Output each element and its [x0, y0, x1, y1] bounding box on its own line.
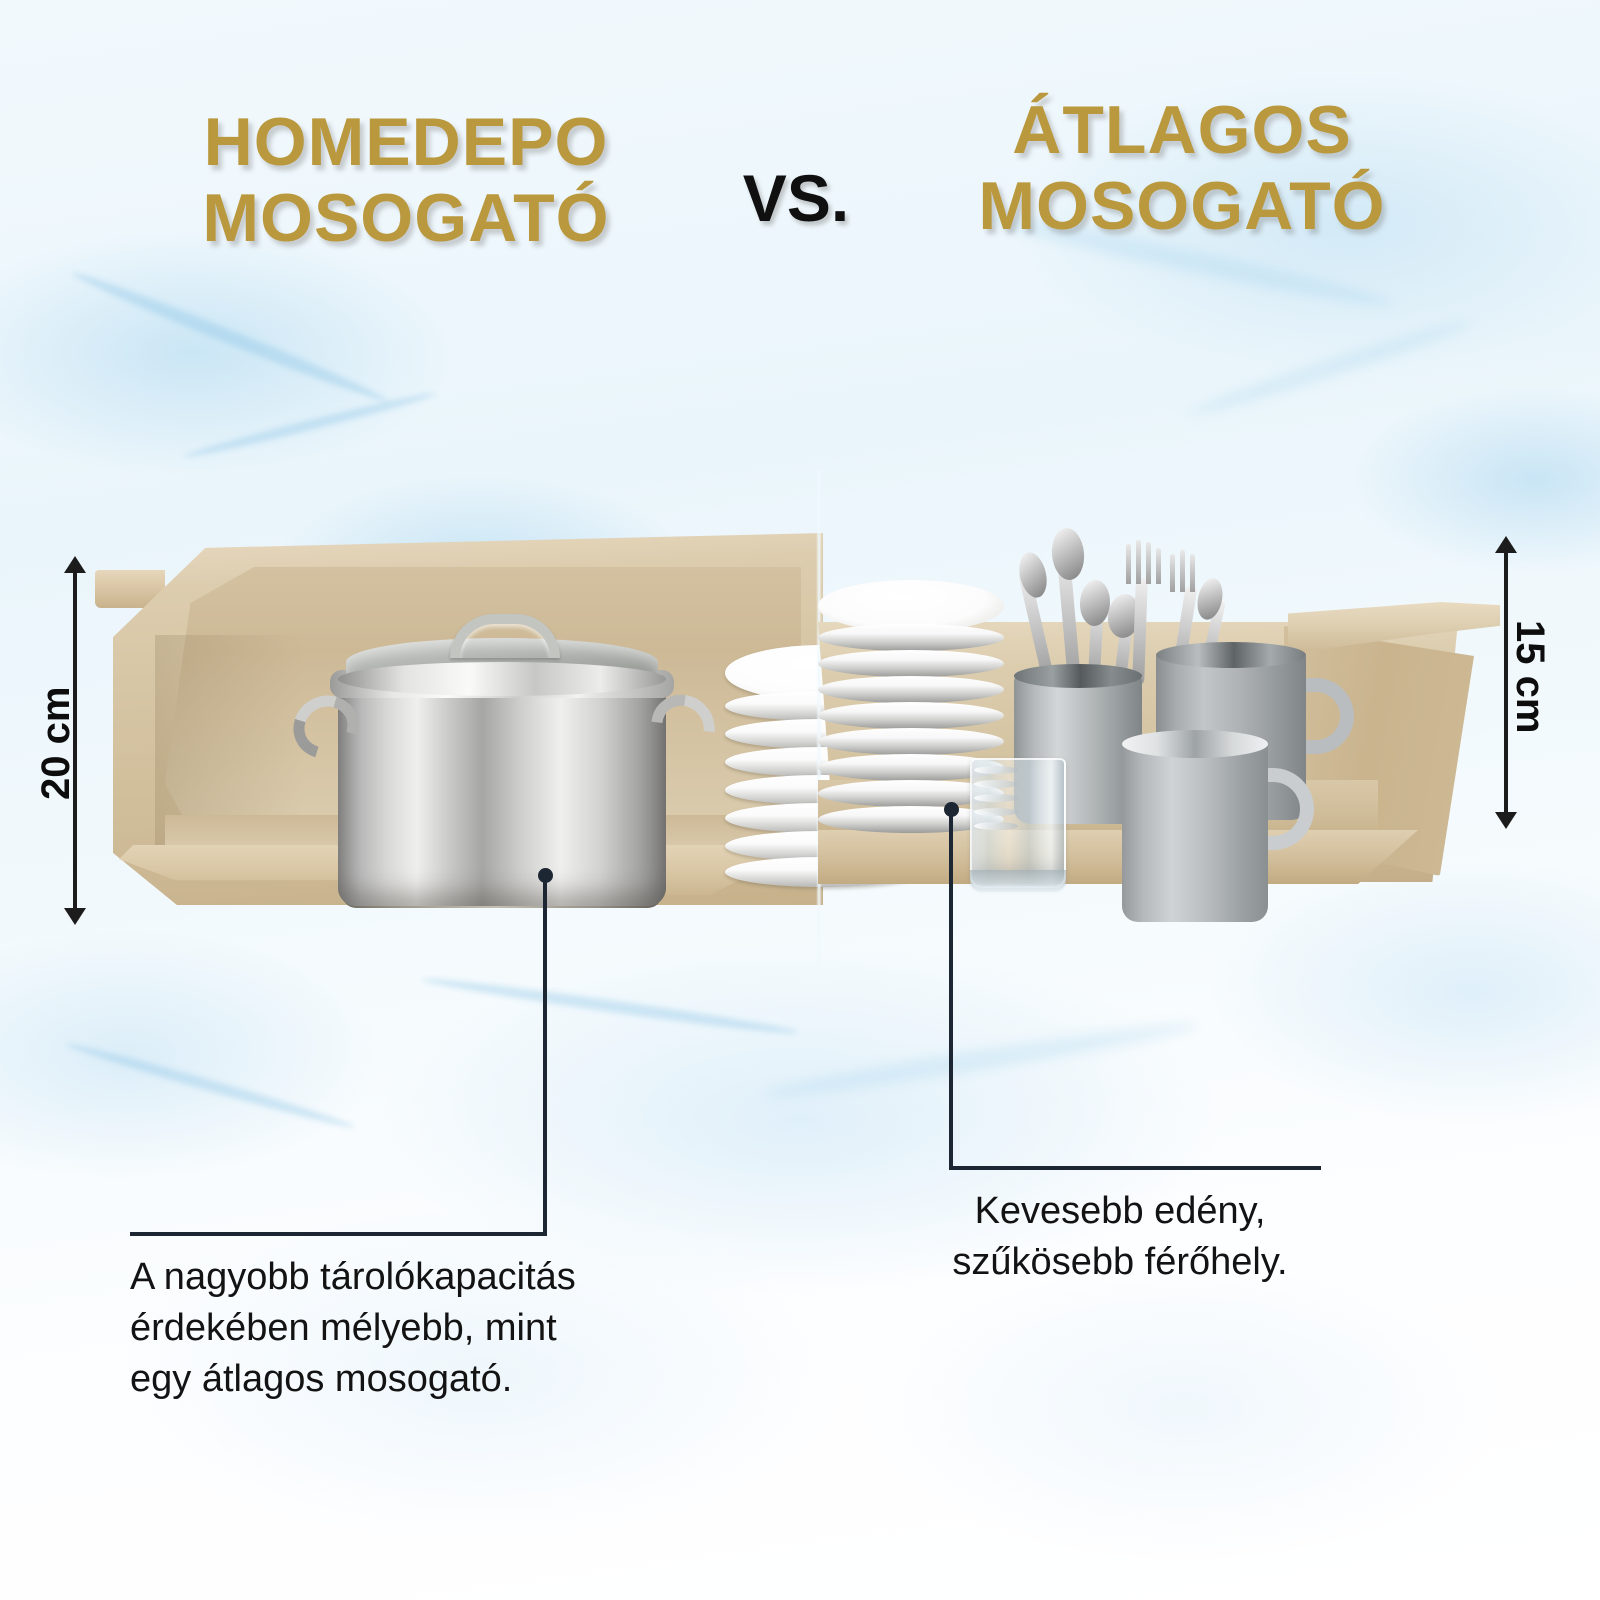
- deep-sink-basin: [95, 515, 823, 945]
- heading-right-product: ÁTLAGOS MOSOGATÓ: [872, 92, 1492, 244]
- grey-mug-front: [1122, 740, 1268, 922]
- fork-tine: [1180, 550, 1185, 592]
- leader-line-horizontal-right: [949, 1166, 1321, 1170]
- heading-left-product: HOMEDEPO MOSOGATÓ: [96, 104, 716, 256]
- caption-right: Kevesebb edény, szűkösebb férőhely.: [900, 1186, 1340, 1288]
- pot-body: [338, 682, 666, 906]
- fork-tine: [1146, 542, 1151, 584]
- plate: [818, 728, 1004, 755]
- caption-left: A nagyobb tárolókapacitás érdekében mély…: [130, 1252, 690, 1405]
- fork-tine: [1156, 548, 1161, 584]
- plate: [818, 702, 1004, 729]
- stainless-stockpot: [290, 610, 720, 910]
- glass-base: [970, 870, 1066, 892]
- leader-line-vertical-left: [543, 876, 547, 1236]
- mug-rim-front: [1122, 730, 1268, 758]
- dimension-label-left: 20 cm: [34, 687, 79, 800]
- pot-lid-ring: [338, 662, 666, 696]
- fork-tine: [1190, 554, 1195, 592]
- comparison-photo-stage: [0, 470, 1600, 970]
- pot-lid-handle: [450, 614, 560, 658]
- leader-line-horizontal-left: [130, 1232, 547, 1236]
- glass-rib-highlights: [974, 766, 1018, 836]
- plate: [818, 650, 1004, 677]
- fork-tine: [1126, 544, 1131, 584]
- cutlery-holder-mouth: [1014, 664, 1142, 688]
- fork-tine: [1170, 554, 1175, 592]
- plate: [818, 624, 1004, 651]
- fork-tine: [1136, 540, 1141, 584]
- mug-rim-back: [1156, 642, 1306, 668]
- spoon-bowl: [1050, 527, 1086, 582]
- shallow-sink-basin: [818, 530, 1500, 940]
- dimension-label-right: 15 cm: [1507, 620, 1552, 733]
- knife-tip: [1015, 550, 1051, 601]
- versus-label: VS.: [716, 160, 876, 236]
- leader-line-vertical-right: [949, 810, 953, 1170]
- spoon-bowl: [1079, 579, 1111, 627]
- plate: [818, 676, 1004, 703]
